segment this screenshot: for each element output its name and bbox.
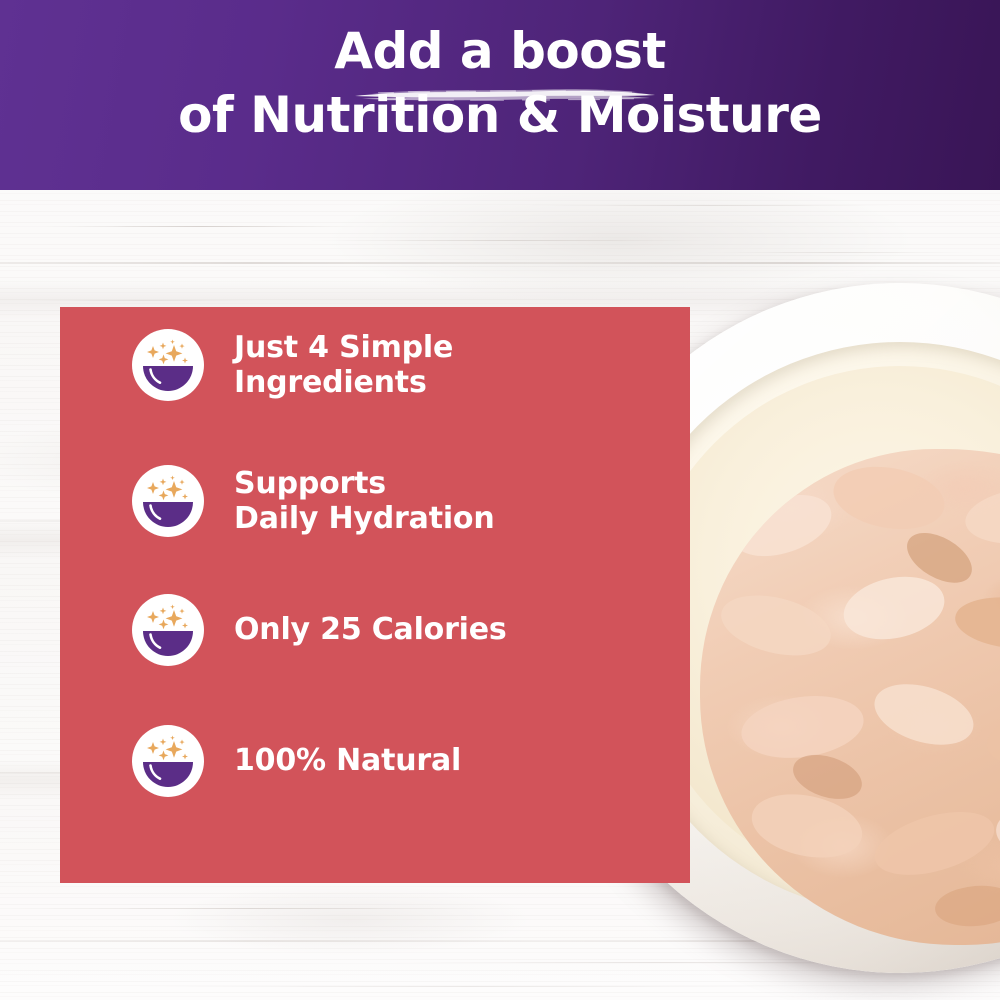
wood-grain (120, 986, 820, 987)
headline-line-2: of Nutrition & Moisture (0, 90, 1000, 140)
wood-grain (700, 252, 980, 253)
promo-graphic: Add a boost of Nutrition & Moisture (0, 0, 1000, 1000)
sparkling-bowl-icon (132, 465, 204, 537)
wood-grain (0, 908, 500, 909)
sparkling-bowl-icon (132, 725, 204, 797)
list-item: Just 4 Simple Ingredients (132, 329, 453, 401)
list-item: Supports Daily Hydration (132, 465, 494, 537)
header-banner: Add a boost of Nutrition & Moisture (0, 0, 1000, 190)
wood-plank-seam (0, 262, 1000, 264)
list-item: Only 25 Calories (132, 594, 507, 666)
list-item-label: Supports Daily Hydration (234, 466, 494, 537)
header-text-block: Add a boost of Nutrition & Moisture (0, 0, 1000, 140)
list-item: 100% Natural (132, 725, 461, 797)
wood-grain (300, 240, 720, 241)
wood-grain (520, 205, 900, 206)
features-list: Just 4 Simple Ingredients (60, 307, 690, 883)
list-item-label: 100% Natural (234, 743, 461, 778)
sparkling-bowl-icon (132, 329, 204, 401)
list-item-label: Just 4 Simple Ingredients (234, 330, 453, 401)
list-item-label: Only 25 Calories (234, 612, 507, 647)
sparkling-bowl-icon (132, 594, 204, 666)
wood-grain (40, 226, 360, 227)
wood-grain (20, 300, 260, 301)
headline-line-1: Add a boost (0, 26, 1000, 76)
